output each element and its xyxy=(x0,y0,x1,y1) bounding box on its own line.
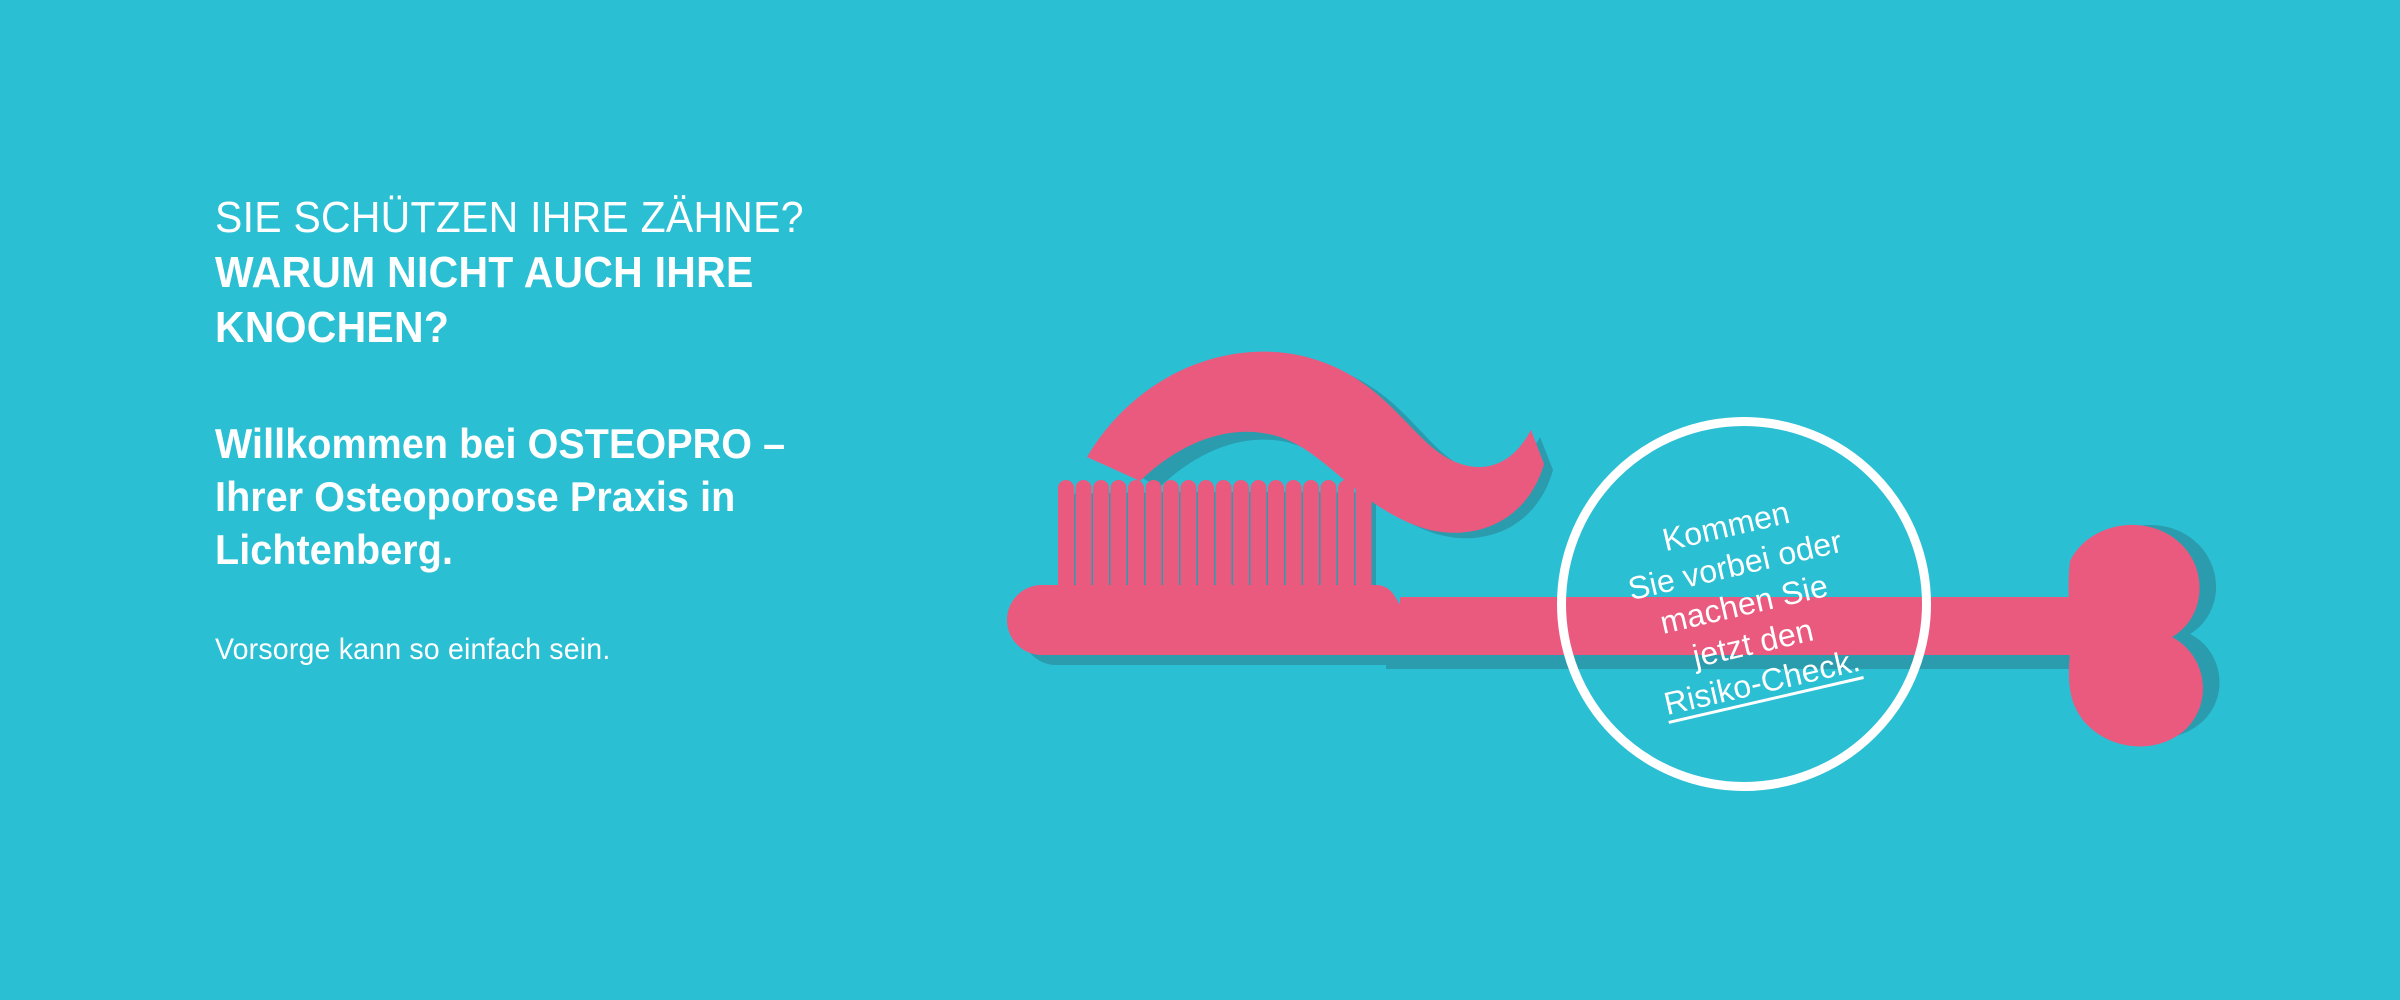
badge-text-block: Kommen Sie vorbei oder machen Sie jetzt … xyxy=(1561,469,1928,738)
subheadline-line-2: Ihrer Osteoporose Praxis in xyxy=(215,470,967,523)
page-title: SIE SCHÜTZEN IHRE ZÄHNE? WARUM NICHT AUC… xyxy=(215,190,1015,355)
risiko-check-badge[interactable]: Kommen Sie vorbei oder machen Sie jetzt … xyxy=(1557,417,1931,791)
bone-end-knuckles xyxy=(2069,525,2203,747)
subheadline-line-1: Willkommen bei OSTEOPRO – xyxy=(215,417,967,470)
headline-line-3: KNOCHEN? xyxy=(215,300,959,355)
headline-line-2: WARUM NICHT AUCH IHRE xyxy=(215,245,959,300)
hero-tagline: Vorsorge kann so einfach sein. xyxy=(215,576,975,668)
subheadline-line-3: Lichtenberg. xyxy=(215,523,967,576)
hero-banner: Kommen Sie vorbei oder machen Sie jetzt … xyxy=(0,0,2400,1000)
headline-line-1: SIE SCHÜTZEN IHRE ZÄHNE? xyxy=(215,190,959,245)
brush-bristles xyxy=(1058,480,1372,592)
hero-subheadline: Willkommen bei OSTEOPRO – Ihrer Osteopor… xyxy=(215,355,1015,576)
toothpaste-swoosh xyxy=(1087,352,1544,533)
hero-copy-block: SIE SCHÜTZEN IHRE ZÄHNE? WARUM NICHT AUC… xyxy=(215,190,1015,668)
